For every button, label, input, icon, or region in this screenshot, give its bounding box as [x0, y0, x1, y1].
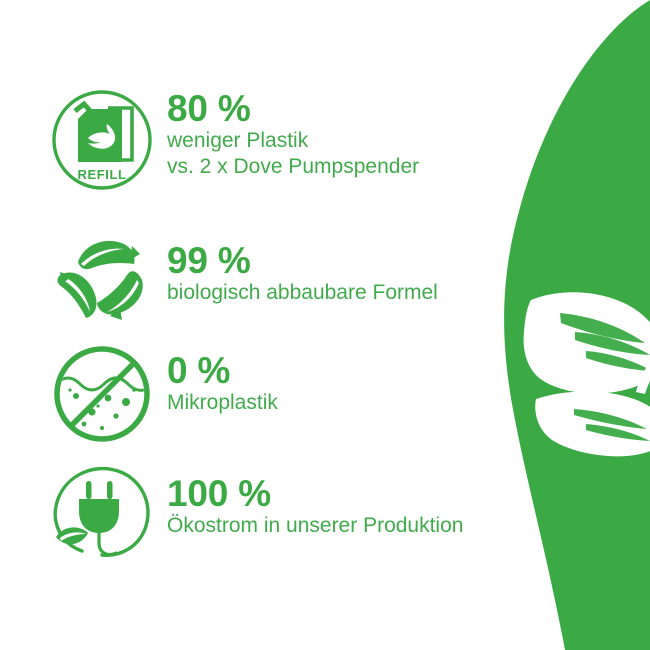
claim-line: weniger Plastik	[167, 128, 419, 154]
claim-line: biologisch abbaubare Formel	[167, 280, 438, 306]
claim-text: 0 % Mikroplastik	[167, 340, 278, 416]
eco-claims-poster: REFILL 80 % weniger Plastik vs. 2 x Dove…	[0, 0, 650, 650]
claim-row: REFILL 80 % weniger Plastik vs. 2 x Dove…	[48, 86, 419, 194]
claim-percent: 0 %	[167, 352, 278, 390]
claim-text: 80 % weniger Plastik vs. 2 x Dove Pumpsp…	[167, 86, 419, 181]
no-microplastic-icon	[48, 340, 156, 448]
white-leaf-pair	[524, 292, 650, 456]
claim-text: 99 % biologisch abbaubare Formel	[167, 224, 438, 306]
claim-line: Ökostrom in unserer Produktion	[167, 513, 463, 539]
refill-pouch-icon: REFILL	[48, 86, 156, 194]
claim-line: vs. 2 x Dove Pumpspender	[167, 154, 419, 180]
claim-percent: 99 %	[167, 242, 438, 280]
green-power-plug-icon	[48, 459, 156, 567]
claim-row: 100 % Ökostrom in unserer Produktion	[48, 459, 463, 567]
refill-icon-label: REFILL	[77, 167, 126, 182]
claims-list: REFILL 80 % weniger Plastik vs. 2 x Dove…	[0, 0, 500, 650]
claim-row: 99 % biologisch abbaubare Formel	[48, 224, 438, 332]
claim-percent: 80 %	[167, 90, 419, 128]
claim-text: 100 % Ökostrom in unserer Produktion	[167, 459, 463, 539]
recycle-leaves-icon	[48, 224, 156, 332]
claim-row: 0 % Mikroplastik	[48, 340, 278, 448]
claim-percent: 100 %	[167, 475, 463, 513]
claim-line: Mikroplastik	[167, 390, 278, 416]
